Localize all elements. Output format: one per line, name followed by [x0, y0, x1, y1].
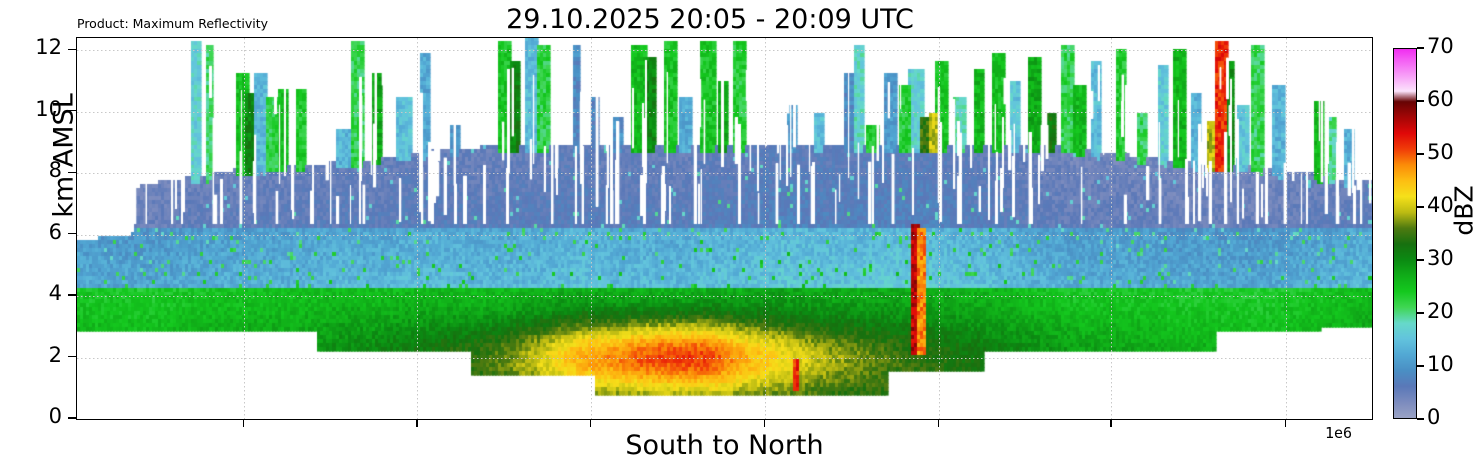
y-tick-label: 0: [14, 404, 62, 428]
radar-heatmap: [77, 38, 1372, 419]
y-tick-mark: [68, 110, 76, 111]
radar-heatmap-canvas-holder: [77, 38, 1372, 419]
y-tick-label: 4: [14, 281, 62, 305]
y-tick-mark: [68, 417, 76, 418]
gridline-horizontal: [77, 419, 1372, 420]
x-tick-mark: [243, 420, 244, 427]
y-tick-mark: [68, 233, 76, 234]
colorbar-tick-mark: [1417, 259, 1424, 260]
y-tick-label: 10: [14, 97, 62, 121]
colorbar: [1393, 48, 1417, 419]
y-tick-label: 12: [14, 35, 62, 59]
y-tick-mark: [68, 49, 76, 50]
x-tick-mark: [1285, 420, 1286, 427]
x-tick-mark: [938, 420, 939, 427]
colorbar-tick-label: 60: [1427, 87, 1454, 111]
radar-cross-section-figure: Product: Maximum Reflectivity 29.10.2025…: [0, 0, 1482, 470]
colorbar-tick-mark: [1417, 100, 1424, 101]
x-axis-label: South to North: [76, 430, 1373, 461]
colorbar-tick-label: 10: [1427, 352, 1454, 376]
colorbar-tick-mark: [1417, 365, 1424, 366]
x-tick-mark: [1110, 420, 1111, 427]
colorbar-tick-mark: [1417, 418, 1424, 419]
x-axis-offset-text: 1e6: [1325, 424, 1352, 442]
colorbar-tick-mark: [1417, 47, 1424, 48]
plot-area: [76, 37, 1373, 420]
colorbar-tick-label: 0: [1427, 405, 1440, 429]
x-tick-mark: [590, 420, 591, 427]
x-tick-mark: [416, 420, 417, 427]
y-tick-label: 8: [14, 158, 62, 182]
y-tick-label: 6: [14, 220, 62, 244]
colorbar-label: dBZ: [1450, 151, 1479, 271]
colorbar-tick-label: 70: [1427, 34, 1454, 58]
colorbar-tick-mark: [1417, 153, 1424, 154]
colorbar-tick-label: 20: [1427, 299, 1454, 323]
colorbar-gradient: [1394, 49, 1416, 418]
y-tick-mark: [68, 294, 76, 295]
colorbar-tick-mark: [1417, 312, 1424, 313]
y-tick-mark: [68, 356, 76, 357]
colorbar-tick-mark: [1417, 206, 1424, 207]
x-tick-mark: [764, 420, 765, 427]
y-tick-mark: [68, 172, 76, 173]
figure-title: 29.10.2025 20:05 - 20:09 UTC: [0, 4, 1420, 35]
y-tick-label: 2: [14, 343, 62, 367]
